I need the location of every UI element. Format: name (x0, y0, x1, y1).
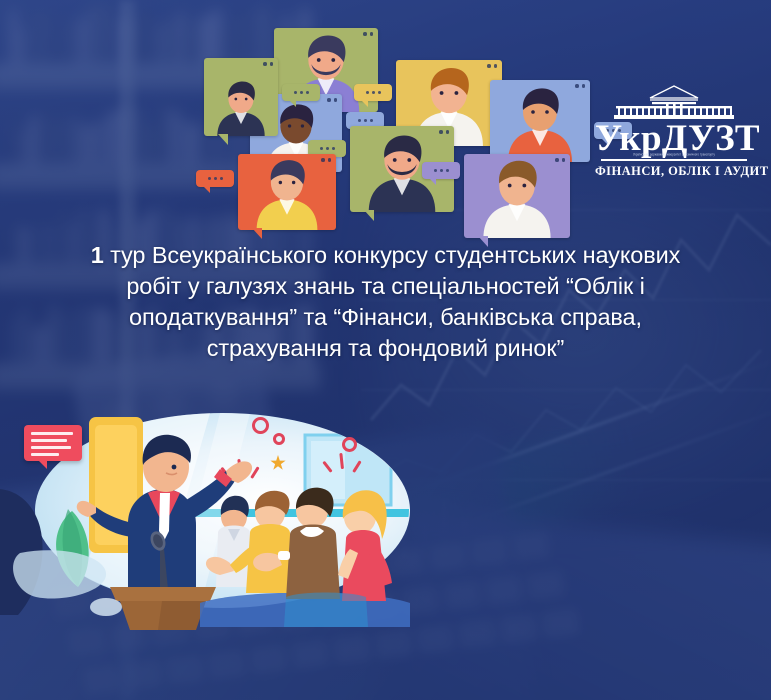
speech-bubble-text-line (31, 439, 67, 442)
speech-bubble-text-line (31, 446, 71, 449)
video-call-window[interactable] (204, 58, 278, 136)
ukrdhzt-logo: УкрДУЗТ Український державний університе… (595, 84, 753, 179)
video-window-controls[interactable] (321, 158, 331, 162)
video-window-controls[interactable] (555, 158, 565, 162)
video-window-tail (218, 134, 228, 145)
video-conference-illustration (250, 14, 590, 230)
video-call-window[interactable] (490, 80, 590, 162)
video-window-tail (364, 210, 374, 221)
video-window-controls[interactable] (363, 32, 373, 36)
logo-tagline: ФІНАНСИ, ОБЛІК І АУДИТ (595, 164, 753, 179)
chat-bubble (196, 170, 234, 187)
video-window-controls[interactable] (487, 64, 497, 68)
chat-bubble (422, 162, 460, 179)
decor-spark-2 (330, 451, 360, 473)
title-line-1: 1 тур Всеукраїнського конкурсу студентсь… (36, 240, 735, 271)
chat-bubble (282, 84, 320, 101)
video-call-window[interactable] (464, 154, 570, 238)
video-window-controls[interactable] (575, 84, 585, 88)
video-call-feed (238, 154, 336, 230)
video-call-window[interactable] (238, 154, 336, 230)
video-window-controls[interactable] (327, 98, 337, 102)
decor-ring-2 (273, 433, 285, 445)
title-line-3: оподаткування” та “Фінанси, банківська с… (36, 302, 735, 333)
video-call-feed (464, 154, 570, 238)
video-window-controls[interactable] (263, 62, 273, 66)
title-lead-number: 1 (91, 242, 104, 268)
video-call-feed (204, 58, 278, 136)
poster-title: 1 тур Всеукраїнського конкурсу студентсь… (0, 240, 771, 364)
video-call-feed (490, 80, 590, 162)
title-line-2: робіт у галузях знань та спеціальностей … (36, 271, 735, 302)
audience-member-4 (338, 490, 392, 601)
speech-bubble-text-line (31, 453, 59, 456)
speech-bubble-text-line (31, 432, 73, 435)
ground-shadow (8, 545, 148, 625)
title-line-1-text: тур Всеукраїнського конкурсу студентськи… (104, 242, 681, 268)
university-building-icon (614, 84, 734, 120)
speaker-scene-illustration (0, 395, 420, 640)
poster-canvas: УкрДУЗТ Український державний університе… (0, 0, 771, 700)
chat-bubble (354, 84, 392, 101)
video-window-controls[interactable] (439, 130, 449, 134)
audience-group (200, 477, 410, 627)
decor-ring-3 (342, 437, 357, 452)
logo-microtext: Український державний університет залізн… (595, 153, 753, 158)
title-line-4: страхування та фондовий ринок” (36, 333, 735, 364)
decor-star-icon (270, 455, 286, 471)
video-window-tail (252, 228, 262, 239)
logo-divider (601, 159, 747, 161)
speech-bubble-tail (38, 460, 47, 469)
